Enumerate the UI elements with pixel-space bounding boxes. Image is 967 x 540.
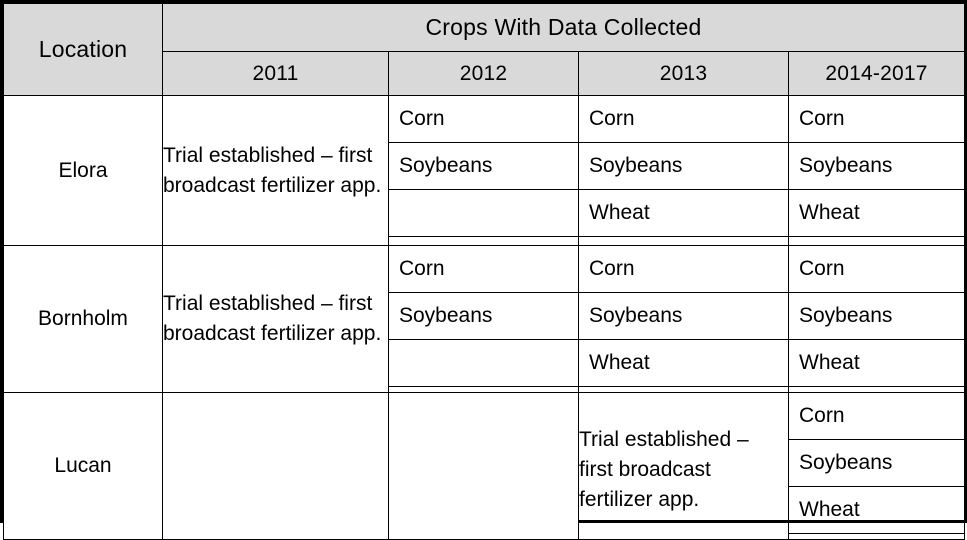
list-filler [389,237,578,246]
header-year-2013: 2013 [579,52,789,96]
bornholm-2012-cell: Corn Soybeans [389,246,579,393]
crop-entry: Soybeans [789,440,964,487]
crop-list-filler [789,237,964,246]
list-item: Corn [389,96,578,143]
list-item: Wheat [579,340,788,387]
crop-list-filler [789,534,964,540]
lucan-2013-note: Trial established – first broadcast fert… [579,393,789,540]
crop-list-filler [389,387,578,393]
elora-2011-note: Trial established – first broadcast fert… [163,96,389,246]
elora-2013-crop-list: Corn Soybeans Wheat [579,96,788,245]
list-item: Wheat [789,340,964,387]
crops-data-table: Location Crops With Data Collected 2011 … [3,3,965,540]
bornholm-2011-note: Trial established – first broadcast fert… [163,246,389,393]
location-name-lucan: Lucan [4,393,163,540]
crop-entry-empty [389,190,578,237]
crop-entry: Soybeans [389,143,578,190]
list-item: Corn [579,246,788,293]
list-item [389,340,578,387]
crop-list-filler [789,387,964,393]
crop-entry: Corn [579,96,788,143]
list-filler [789,387,964,393]
list-item: Soybeans [389,293,578,340]
crop-entry: Wheat [789,190,964,237]
list-filler [579,387,788,393]
list-item: Soybeans [579,143,788,190]
location-name-elora: Elora [4,96,163,246]
header-crops-with-data-collected: Crops With Data Collected [163,4,965,52]
crop-list-filler [579,387,788,393]
bornholm-2014-2017-crop-list: Corn Soybeans Wheat [789,246,964,392]
crop-entry: Corn [389,246,578,293]
list-item: Soybeans [789,440,964,487]
list-filler [389,387,578,393]
elora-2014-2017-crop-list: Corn Soybeans Wheat [789,96,964,245]
elora-2014-2017-cell: Corn Soybeans Wheat [789,96,965,246]
list-item: Soybeans [579,293,788,340]
crop-entry: Wheat [579,190,788,237]
list-item: Wheat [789,190,964,237]
header-year-2014-2017: 2014-2017 [789,52,965,96]
bornholm-2014-2017-cell: Corn Soybeans Wheat [789,246,965,393]
list-filler [789,237,964,246]
crop-entry: Corn [789,393,964,440]
header-year-2012: 2012 [389,52,579,96]
crop-list-filler [389,237,578,246]
bornholm-2013-crop-list: Corn Soybeans Wheat [579,246,788,392]
list-item: Wheat [789,487,964,534]
table-body: Elora Trial established – first broadcas… [4,96,965,540]
list-item: Corn [789,246,964,293]
crop-list-filler [579,237,788,246]
crop-entry: Soybeans [389,293,578,340]
elora-2012-cell: Corn Soybeans [389,96,579,246]
crop-entry: Wheat [579,340,788,387]
header-row-group: Location Crops With Data Collected [4,4,965,52]
list-item: Soybeans [389,143,578,190]
crop-entry: Corn [389,96,578,143]
crop-entry: Soybeans [579,143,788,190]
list-filler [579,237,788,246]
lucan-2012-cell [389,393,579,540]
list-filler [789,534,964,540]
table-outer-frame: Location Crops With Data Collected 2011 … [0,0,967,523]
list-item: Wheat [579,190,788,237]
crop-entry: Wheat [789,487,964,534]
crop-entry: Corn [579,246,788,293]
list-item: Corn [789,393,964,440]
table-header: Location Crops With Data Collected 2011 … [4,4,965,96]
header-location: Location [4,4,163,96]
location-name-bornholm: Bornholm [4,246,163,393]
crop-entry: Soybeans [789,293,964,340]
table-row: Lucan Trial established – first broadcas… [4,393,965,540]
lucan-2011-cell [163,393,389,540]
bornholm-2012-crop-list: Corn Soybeans [389,246,578,392]
crop-entry: Corn [789,246,964,293]
list-item: Soybeans [789,293,964,340]
elora-2013-cell: Corn Soybeans Wheat [579,96,789,246]
elora-2012-crop-list: Corn Soybeans [389,96,578,245]
crop-entry: Soybeans [789,143,964,190]
lucan-2014-2017-cell: Corn Soybeans Wheat [789,393,965,540]
crop-entry: Wheat [789,340,964,387]
list-item: Corn [579,96,788,143]
crop-entry: Soybeans [579,293,788,340]
crop-entry: Corn [789,96,964,143]
list-item [389,190,578,237]
table-row: Elora Trial established – first broadcas… [4,96,965,246]
list-item: Soybeans [789,143,964,190]
list-item: Corn [789,96,964,143]
table-row: Bornholm Trial established – first broad… [4,246,965,393]
list-item: Corn [389,246,578,293]
header-year-2011: 2011 [163,52,389,96]
bornholm-2013-cell: Corn Soybeans Wheat [579,246,789,393]
lucan-2014-2017-crop-list: Corn Soybeans Wheat [789,393,964,539]
crop-entry-empty [389,340,578,387]
